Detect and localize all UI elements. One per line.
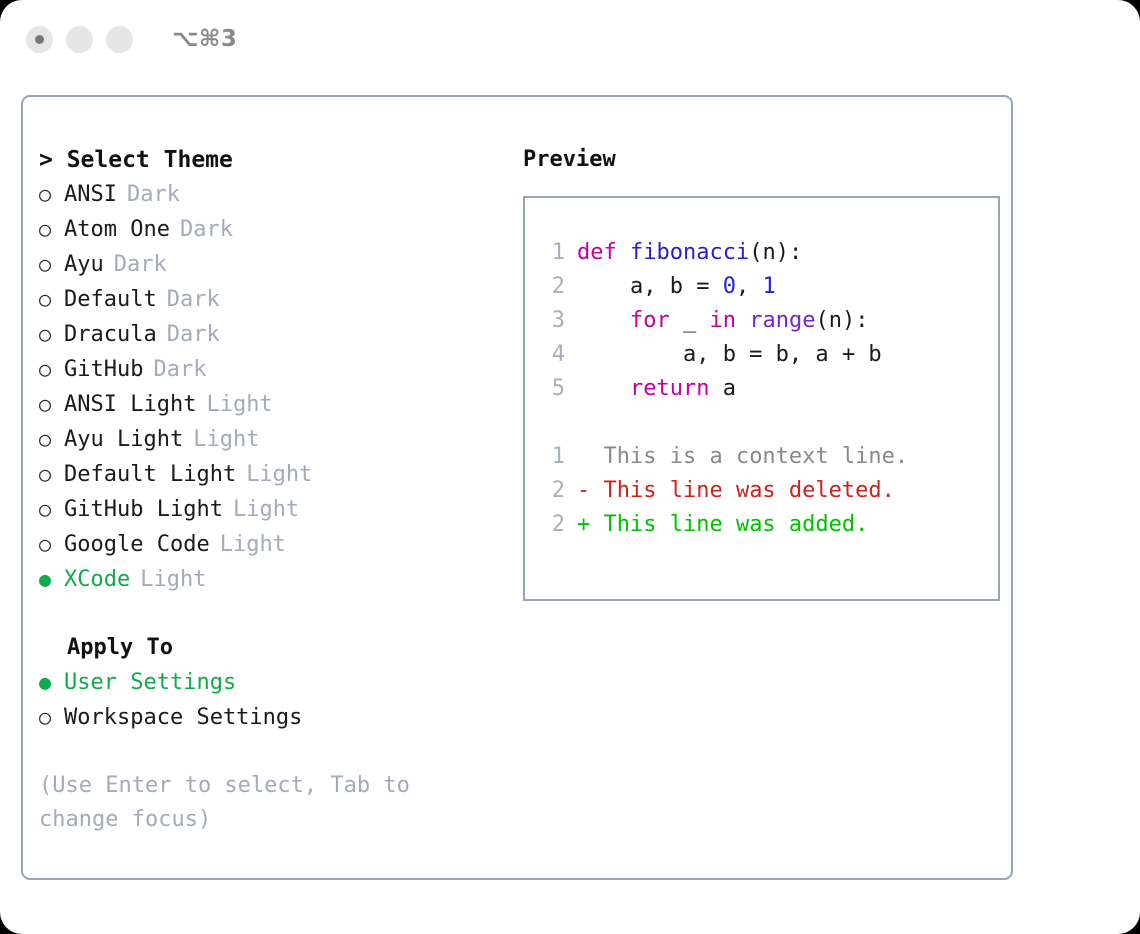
theme-name: ANSI	[64, 178, 117, 212]
code-line: 1def fibonacci(n):	[539, 236, 998, 270]
line-number: 2	[539, 474, 577, 508]
window-dot-2[interactable]	[66, 26, 93, 53]
diff-text: This line was deleted.	[590, 478, 895, 503]
line-number: 2	[539, 270, 577, 304]
theme-list-item[interactable]: ○ANSI LightLight	[39, 387, 501, 422]
app-window: ⌥⌘3 > Select Theme ○ANSIDark○Atom OneDar…	[0, 0, 1140, 934]
apply-to-item[interactable]: ○Workspace Settings	[39, 700, 501, 735]
line-number: 1	[539, 440, 577, 474]
code-token: (n):	[749, 240, 802, 265]
radio-unselected-icon[interactable]: ○	[39, 352, 64, 386]
code-token: a, b =	[577, 274, 723, 299]
window-dot-active-inner	[35, 35, 44, 44]
diff-line: 2+ This line was added.	[539, 508, 998, 542]
line-number: 1	[539, 236, 577, 270]
theme-list-item[interactable]: ○GitHubDark	[39, 352, 501, 387]
preview-title: Preview	[523, 143, 1011, 177]
theme-variant-badge: Light	[223, 493, 299, 527]
code-token: (n):	[815, 308, 868, 333]
theme-variant-badge: Light	[210, 528, 286, 562]
theme-name: Atom One	[64, 213, 170, 247]
apply-to-title: Apply To	[39, 631, 501, 665]
preview-column: Preview 1def fibonacci(n):2 a, b = 0, 13…	[501, 143, 1011, 837]
code-token: range	[749, 308, 815, 333]
code-token: return	[630, 376, 709, 401]
theme-list: ○ANSIDark○Atom OneDark○AyuDark○DefaultDa…	[39, 177, 501, 597]
theme-variant-badge: Dark	[157, 318, 220, 352]
theme-variant-badge: Light	[130, 563, 206, 597]
theme-variant-badge: Light	[196, 388, 272, 422]
theme-name: XCode	[64, 563, 130, 597]
theme-name: GitHub	[64, 353, 143, 387]
code-token	[577, 308, 630, 333]
theme-name: Google Code	[64, 528, 210, 562]
apply-to-list: ●User Settings○Workspace Settings	[39, 665, 501, 735]
theme-name: Ayu Light	[64, 423, 183, 457]
theme-variant-badge: Light	[183, 423, 259, 457]
theme-name: Ayu	[64, 248, 104, 282]
radio-unselected-icon[interactable]: ○	[39, 282, 64, 316]
list-spacer	[39, 597, 501, 631]
keyboard-hint: (Use Enter to select, Tab to change focu…	[39, 769, 459, 837]
code-token: def	[577, 240, 630, 265]
code-token: fibonacci	[630, 240, 749, 265]
diff-line: 2- This line was deleted.	[539, 474, 998, 508]
code-token: a	[709, 376, 736, 401]
code-line: 2 a, b = 0, 1	[539, 270, 998, 304]
window-dot-3[interactable]	[106, 26, 133, 53]
theme-picker-window: > Select Theme ○ANSIDark○Atom OneDark○Ay…	[21, 95, 1013, 880]
code-token: in	[709, 308, 736, 333]
radio-unselected-icon[interactable]: ○	[39, 177, 64, 211]
code-token: 1	[762, 274, 775, 299]
code-line: 5 return a	[539, 372, 998, 406]
radio-selected-icon[interactable]: ●	[39, 665, 64, 699]
theme-list-item[interactable]: ○Default LightLight	[39, 457, 501, 492]
theme-list-item[interactable]: ○DraculaDark	[39, 317, 501, 352]
theme-variant-badge: Dark	[143, 353, 206, 387]
theme-list-item[interactable]: ○GitHub LightLight	[39, 492, 501, 527]
theme-list-item[interactable]: ○ANSIDark	[39, 177, 501, 212]
apply-to-label: Workspace Settings	[64, 701, 302, 735]
diff-text: This is a context line.	[590, 444, 908, 469]
theme-list-item[interactable]: ○Atom OneDark	[39, 212, 501, 247]
diff-sample: 1 This is a context line.2- This line wa…	[539, 440, 998, 542]
code-token	[577, 376, 630, 401]
diff-marker: -	[577, 478, 590, 503]
code-token: 0	[723, 274, 736, 299]
radio-unselected-icon[interactable]: ○	[39, 700, 64, 734]
theme-variant-badge: Light	[236, 458, 312, 492]
line-number: 5	[539, 372, 577, 406]
line-number: 3	[539, 304, 577, 338]
diff-line: 1 This is a context line.	[539, 440, 998, 474]
theme-variant-badge: Dark	[104, 248, 167, 282]
diff-marker	[577, 444, 590, 469]
keyboard-shortcut-label: ⌥⌘3	[172, 26, 237, 52]
line-number: 4	[539, 338, 577, 372]
diff-marker: +	[577, 512, 590, 537]
code-line: 3 for _ in range(n):	[539, 304, 998, 338]
radio-unselected-icon[interactable]: ○	[39, 387, 64, 421]
theme-list-item[interactable]: ○DefaultDark	[39, 282, 501, 317]
title-bar: ⌥⌘3	[0, 0, 1140, 78]
theme-list-item[interactable]: ○AyuDark	[39, 247, 501, 282]
theme-variant-badge: Dark	[170, 213, 233, 247]
theme-name: Dracula	[64, 318, 157, 352]
theme-list-item[interactable]: ○Ayu LightLight	[39, 422, 501, 457]
theme-variant-badge: Dark	[117, 178, 180, 212]
code-token: for	[630, 308, 670, 333]
code-token	[736, 308, 749, 333]
apply-to-item[interactable]: ●User Settings	[39, 665, 501, 700]
radio-unselected-icon[interactable]: ○	[39, 457, 64, 491]
radio-unselected-icon[interactable]: ○	[39, 247, 64, 281]
code-diff-gap	[539, 406, 998, 440]
content-columns: > Select Theme ○ANSIDark○Atom OneDark○Ay…	[23, 97, 1011, 837]
theme-list-item[interactable]: ●XCodeLight	[39, 562, 501, 597]
radio-unselected-icon[interactable]: ○	[39, 317, 64, 351]
theme-selection-column: > Select Theme ○ANSIDark○Atom OneDark○Ay…	[39, 143, 501, 837]
radio-selected-icon[interactable]: ●	[39, 562, 64, 596]
code-token: ,	[736, 274, 763, 299]
theme-name: Default Light	[64, 458, 236, 492]
radio-unselected-icon[interactable]: ○	[39, 422, 64, 456]
radio-unselected-icon[interactable]: ○	[39, 212, 64, 246]
window-dot-active[interactable]	[26, 26, 53, 53]
line-number: 2	[539, 508, 577, 542]
radio-unselected-icon[interactable]: ○	[39, 527, 64, 561]
apply-to-label: User Settings	[64, 666, 236, 700]
theme-list-item[interactable]: ○Google CodeLight	[39, 527, 501, 562]
theme-name: ANSI Light	[64, 388, 196, 422]
theme-variant-badge: Dark	[157, 283, 220, 317]
select-theme-header: > Select Theme	[39, 143, 501, 177]
preview-panel: 1def fibonacci(n):2 a, b = 0, 13 for _ i…	[523, 196, 1000, 601]
code-token: a, b = b, a + b	[577, 342, 882, 367]
code-line: 4 a, b = b, a + b	[539, 338, 998, 372]
theme-name: GitHub Light	[64, 493, 223, 527]
code-sample: 1def fibonacci(n):2 a, b = 0, 13 for _ i…	[539, 236, 998, 406]
radio-unselected-icon[interactable]: ○	[39, 492, 64, 526]
diff-text: This line was added.	[590, 512, 868, 537]
code-token: _	[670, 308, 710, 333]
theme-name: Default	[64, 283, 157, 317]
